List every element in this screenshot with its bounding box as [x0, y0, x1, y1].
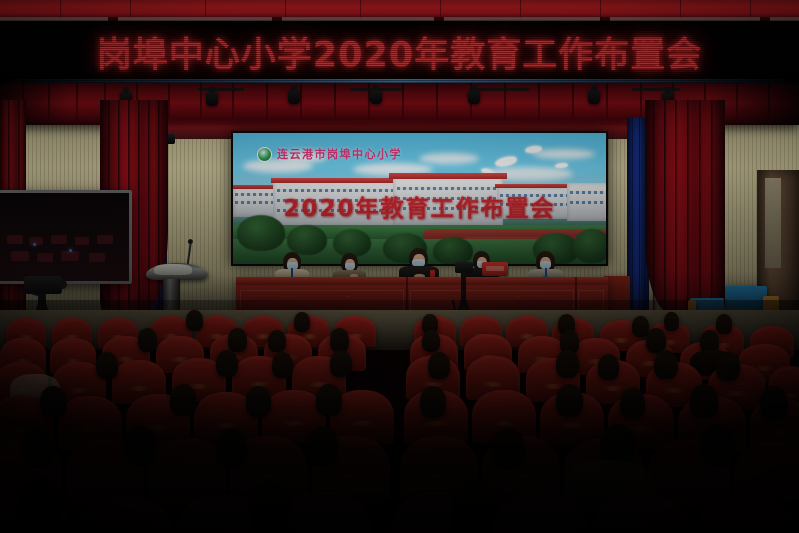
audience-head: [598, 354, 619, 380]
audience-head: [690, 384, 718, 418]
led-banner-text: 岗埠中心小学2020年教育工作布置会: [0, 27, 799, 78]
audience-head: [250, 482, 290, 532]
audience-head: [452, 480, 494, 532]
audience-head: [170, 384, 196, 416]
audience-head: [216, 428, 247, 467]
led-banner: 岗埠中心小学2020年教育工作布置会: [0, 21, 799, 83]
audience-head: [620, 388, 645, 419]
audience-head: [268, 330, 286, 352]
audience-head: [556, 384, 583, 417]
audience-head: [40, 386, 66, 418]
audience-head: [138, 328, 157, 352]
audience-head: [22, 428, 54, 468]
audience-head: [420, 386, 446, 418]
seated-audience: [0, 300, 799, 533]
audience-head: [306, 426, 338, 466]
audience-head: [428, 352, 450, 379]
audience-head: [18, 480, 58, 530]
audience-head: [216, 350, 238, 377]
stage-shadow: [0, 83, 799, 323]
audience-head: [556, 350, 579, 378]
audience-head: [760, 386, 788, 420]
audience-head: [316, 384, 342, 416]
auditorium-photo: 岗埠中心小学2020年教育工作布置会: [0, 0, 799, 533]
audience-head: [330, 328, 349, 352]
audience-head: [186, 310, 203, 331]
audience-head: [96, 352, 118, 379]
audience-head: [700, 424, 734, 466]
audience-head: [228, 328, 247, 352]
audience-head: [716, 314, 732, 334]
audience-head: [664, 312, 679, 331]
audience-head: [330, 350, 352, 377]
audience-head: [272, 352, 293, 378]
audience-head: [492, 428, 525, 469]
audience-head: [294, 312, 310, 332]
audience-head: [124, 426, 156, 466]
audience-head: [716, 352, 740, 381]
audience-head: [654, 350, 678, 379]
audience-head: [246, 386, 271, 417]
audience-head: [422, 330, 440, 352]
